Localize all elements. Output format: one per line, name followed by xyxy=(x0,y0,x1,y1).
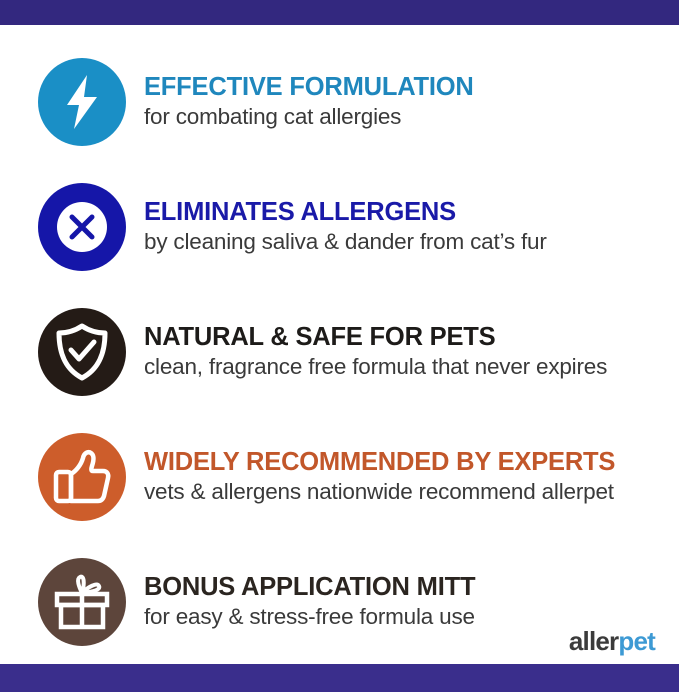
feature-text: NATURAL & SAFE FOR PETS clean, fragrance… xyxy=(126,323,607,381)
feature-item-effective-formulation: EFFECTIVE FORMULATION for combating cat … xyxy=(0,39,679,164)
feature-title: EFFECTIVE FORMULATION xyxy=(144,73,474,102)
feature-subtitle: for combating cat allergies xyxy=(144,103,474,130)
shield-check-icon xyxy=(38,308,126,396)
feature-text: EFFECTIVE FORMULATION for combating cat … xyxy=(126,73,474,131)
feature-item-natural-safe-for-pets: NATURAL & SAFE FOR PETS clean, fragrance… xyxy=(0,289,679,414)
logo-text-pet: pet xyxy=(618,626,655,656)
feature-subtitle: vets & allergens nationwide recommend al… xyxy=(144,478,615,505)
feature-panel: EFFECTIVE FORMULATION for combating cat … xyxy=(0,0,679,679)
gift-box-icon xyxy=(38,558,126,646)
feature-text: WIDELY RECOMMENDED BY EXPERTS vets & all… xyxy=(126,448,615,506)
feature-item-eliminates-allergens: ELIMINATES ALLERGENS by cleaning saliva … xyxy=(0,164,679,289)
lightning-bolt-icon xyxy=(38,58,126,146)
feature-subtitle: by cleaning saliva & dander from cat’s f… xyxy=(144,228,547,255)
top-accent-bar xyxy=(0,0,679,25)
feature-subtitle: for easy & stress-free formula use xyxy=(144,603,475,630)
feature-subtitle: clean, fragrance free formula that never… xyxy=(144,353,607,380)
feature-text: ELIMINATES ALLERGENS by cleaning saliva … xyxy=(126,198,547,256)
feature-title: WIDELY RECOMMENDED BY EXPERTS xyxy=(144,448,615,477)
feature-title: ELIMINATES ALLERGENS xyxy=(144,198,547,227)
allerpet-logo: allerpet xyxy=(569,628,655,654)
logo-text-aller: aller xyxy=(569,626,619,656)
thumbs-up-icon xyxy=(38,433,126,521)
feature-item-widely-recommended: WIDELY RECOMMENDED BY EXPERTS vets & all… xyxy=(0,414,679,539)
feature-text: BONUS APPLICATION MITT for easy & stress… xyxy=(126,573,475,631)
feature-title: BONUS APPLICATION MITT xyxy=(144,573,475,602)
bottom-accent-bar xyxy=(0,664,679,692)
feature-title: NATURAL & SAFE FOR PETS xyxy=(144,323,607,352)
feature-list: EFFECTIVE FORMULATION for combating cat … xyxy=(0,27,679,664)
circle-x-icon xyxy=(38,183,126,271)
